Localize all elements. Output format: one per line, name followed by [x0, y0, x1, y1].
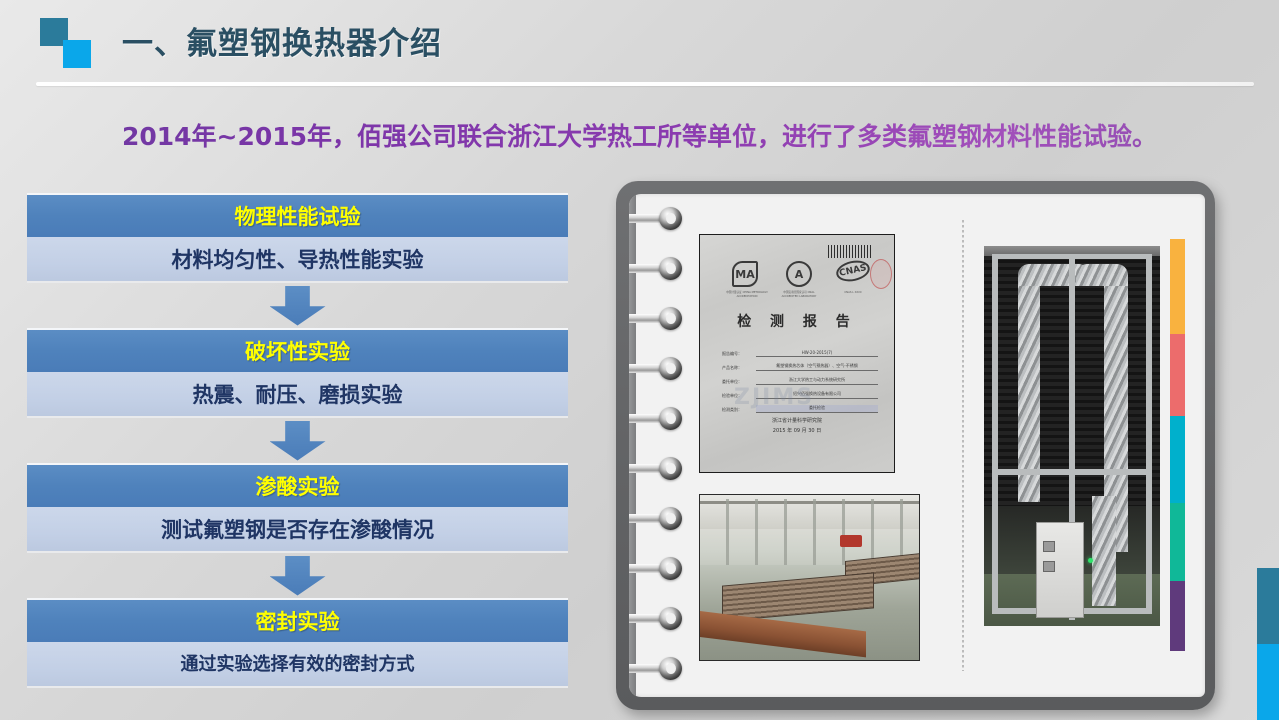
certification-logos: MA A CNAS 中国计量认证 CHINA METROLOGY ACCREDI…: [724, 261, 874, 295]
tab-cyan[interactable]: [1170, 416, 1185, 503]
flow-step-title: 密封实验: [27, 598, 568, 642]
flow-step: 破坏性实验 热震、耐压、磨损实验: [27, 328, 568, 418]
ring-eyelet-icon: [659, 457, 682, 480]
factory-columns: [700, 499, 919, 565]
decoration-square-light: [63, 40, 91, 68]
cma-logo-caption: 中国实验室国家认可 CNAL ACCREDITED LABORATORY: [776, 291, 822, 299]
report-field-key: 报告编号：: [722, 351, 756, 357]
test-rig-photo: [984, 246, 1160, 626]
ring-eyelet-icon: [659, 407, 682, 430]
ring-eyelet-icon: [659, 307, 682, 330]
cma-logo-icon: A: [786, 261, 812, 287]
report-field-value: 氟塑钢换热芯体（空气预热器）、空气-不锈钢: [756, 363, 878, 371]
flow-step-desc: 测试氟塑钢是否存在渗酸情况: [27, 507, 568, 553]
barcode-icon: [828, 245, 872, 258]
factory-tube-bundle-photo: [699, 494, 920, 661]
page-title: 一、氟塑钢换热器介绍: [122, 18, 442, 63]
corner-accent-block: [1257, 568, 1279, 720]
ma-logo-icon: MA: [732, 261, 758, 287]
report-field: 委托单位： 浙江大学热工与动力系统研究所: [722, 371, 878, 385]
arrow-down-icon: [270, 421, 326, 461]
cnas-logo-icon: CNAS: [834, 258, 871, 285]
inspection-report-photo: MA A CNAS 中国计量认证 CHINA METROLOGY ACCREDI…: [699, 234, 895, 473]
ring-eyelet-icon: [659, 357, 682, 380]
report-field-value: 浙江大学热工与动力系统研究所: [756, 377, 878, 385]
factory-red-machine: [840, 535, 862, 547]
cabinet-knob-icon: [1043, 561, 1055, 572]
tab-purple[interactable]: [1170, 581, 1185, 651]
arrow-down-icon: [270, 556, 326, 596]
report-watermark: ZJIMS: [734, 385, 814, 410]
notebook-content-area: MA A CNAS 中国计量认证 CHINA METROLOGY ACCREDI…: [681, 206, 1197, 685]
flow-step: 渗酸实验 测试氟塑钢是否存在渗酸情况: [27, 463, 568, 553]
ring-eyelet-icon: [659, 507, 682, 530]
notebook-panel: MA A CNAS 中国计量认证 CHINA METROLOGY ACCREDI…: [616, 181, 1215, 710]
flow-connector: [27, 283, 568, 328]
notebook-color-tabs: [1170, 239, 1185, 651]
report-field: 产品名称： 氟塑钢换热芯体（空气预热器）、空气-不锈钢: [722, 357, 878, 371]
flow-step: 物理性能试验 材料均匀性、导热性能实验: [27, 193, 568, 283]
cabinet-knob-icon: [1043, 541, 1055, 552]
ring-eyelet-icon: [659, 557, 682, 580]
flow-step-desc: 热震、耐压、磨损实验: [27, 372, 568, 418]
ma-logo-caption: 中国计量认证 CHINA METROLOGY ACCREDITATION: [724, 291, 770, 299]
ring-eyelet-icon: [659, 657, 682, 680]
flow-step: 密封实验 通过实验选择有效的密封方式: [27, 598, 568, 688]
ring-eyelet-icon: [659, 607, 682, 630]
flow-step-title: 渗酸实验: [27, 463, 568, 507]
report-field-key: 产品名称：: [722, 365, 756, 371]
ring-eyelet-icon: [659, 207, 682, 230]
subtitle-text: 2014年~2015年，佰强公司联合浙江大学热工所等单位，进行了多类氟塑钢材料性…: [0, 117, 1279, 153]
flow-step-desc: 通过实验选择有效的密封方式: [27, 642, 568, 688]
flow-step-title: 破坏性实验: [27, 328, 568, 372]
cnas-logo-caption: CNAS L XXXX: [830, 291, 876, 295]
report-issuing-org: 浙江省计量科学研究院: [700, 417, 894, 427]
tab-teal[interactable]: [1170, 503, 1185, 581]
slide-header: 一、氟塑钢换热器介绍: [0, 0, 1279, 92]
ring-eyelet-icon: [659, 257, 682, 280]
flow-step-desc: 材料均匀性、导热性能实验: [27, 237, 568, 283]
tab-coral[interactable]: [1170, 334, 1185, 416]
arrow-down-icon: [270, 286, 326, 326]
flow-step-title: 物理性能试验: [27, 193, 568, 237]
flow-connector: [27, 418, 568, 463]
flow-connector: [27, 553, 568, 598]
report-issue-date: 2015 年 09 月 30 日: [700, 427, 894, 437]
rig-status-led-icon: [1088, 558, 1093, 563]
test-flow-diagram: 物理性能试验 材料均匀性、导热性能实验 破坏性实验 热震、耐压、磨损实验 渗酸实…: [27, 193, 568, 688]
report-field: 报告编号： HW-20-2015(7): [722, 343, 878, 357]
tab-orange[interactable]: [1170, 239, 1185, 334]
rig-control-cabinet: [1036, 522, 1084, 618]
column-divider: [962, 220, 964, 671]
report-title: 检 测 报 告: [700, 311, 894, 331]
notebook-page: MA A CNAS 中国计量认证 CHINA METROLOGY ACCREDI…: [629, 194, 1205, 697]
title-divider: [36, 82, 1254, 86]
corner-accent-top: [1257, 568, 1279, 644]
report-field-value: HW-20-2015(7): [756, 350, 878, 357]
corner-accent-bottom: [1257, 644, 1279, 720]
report-footer: 浙江省计量科学研究院 2015 年 09 月 30 日: [700, 417, 894, 436]
